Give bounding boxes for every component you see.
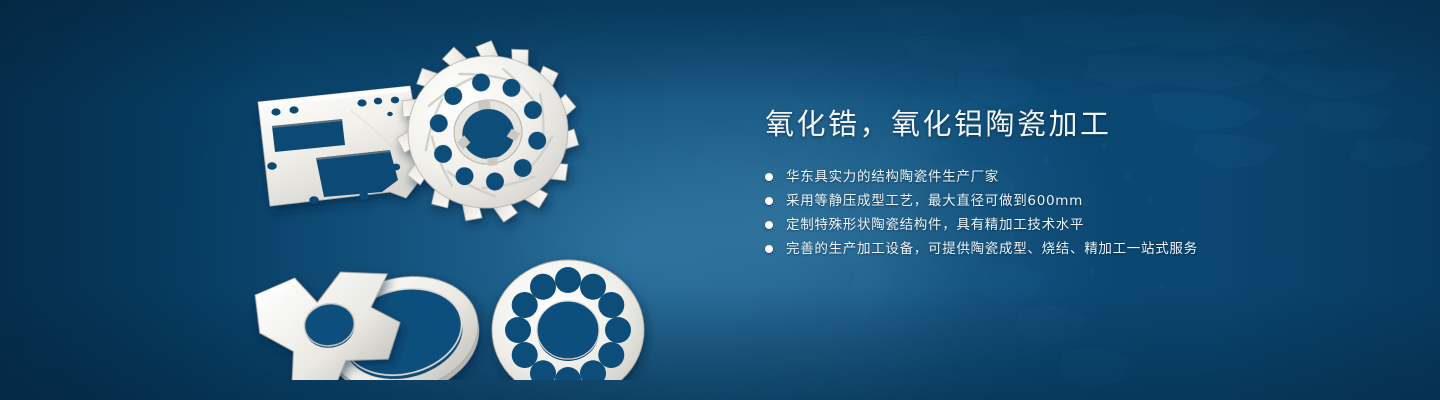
ceramic-impeller-part [384,40,592,236]
bullet-dot-icon [765,173,773,181]
hero-banner: 氧化锆，氧化铝陶瓷加工 华东具实力的结构陶瓷件生产厂家 采用等静压成型工艺，最大… [0,0,1440,400]
ceramic-products-image [230,40,730,380]
list-item-label: 华东具实力的结构陶瓷件生产厂家 [786,165,999,189]
list-item-label: 定制特殊形状陶瓷结构件，具有精加工技术水平 [786,213,1084,237]
list-item: 完善的生产加工设备，可提供陶瓷成型、烧结、精加工一站式服务 [765,237,1385,261]
bullet-dot-icon [765,197,773,205]
banner-copy: 氧化锆，氧化铝陶瓷加工 华东具实力的结构陶瓷件生产厂家 采用等静压成型工艺，最大… [765,104,1385,261]
list-item-label: 完善的生产加工设备，可提供陶瓷成型、烧结、精加工一站式服务 [786,237,1198,261]
feature-list: 华东具实力的结构陶瓷件生产厂家 采用等静压成型工艺，最大直径可做到600mm 定… [765,165,1385,261]
page-title: 氧化锆，氧化铝陶瓷加工 [765,104,1385,144]
list-item: 采用等静压成型工艺，最大直径可做到600mm [765,189,1385,213]
list-item: 华东具实力的结构陶瓷件生产厂家 [765,165,1385,189]
list-item-label: 采用等静压成型工艺，最大直径可做到600mm [786,189,1083,213]
bullet-dot-icon [765,221,773,229]
ceramic-perforated-disc-part [492,260,644,380]
bullet-dot-icon [765,245,773,253]
list-item: 定制特殊形状陶瓷结构件，具有精加工技术水平 [765,213,1385,237]
